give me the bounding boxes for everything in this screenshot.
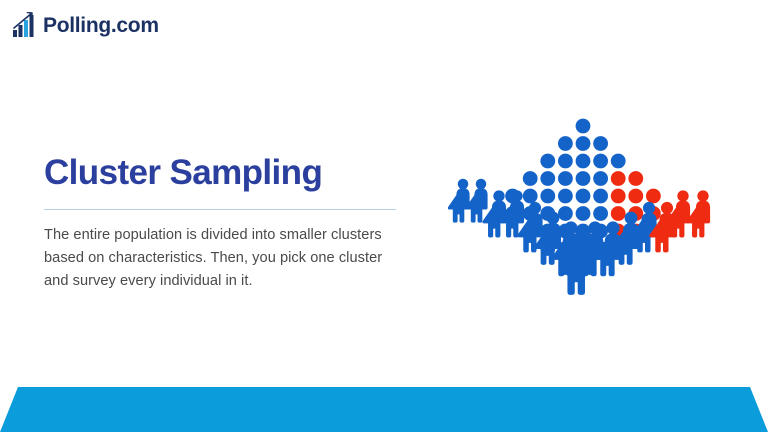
title-divider (44, 209, 396, 211)
crowd-cluster-diagram (448, 112, 718, 307)
bar-chart-growth-icon (12, 12, 36, 38)
crowd-svg (448, 112, 718, 307)
footer-shape (0, 387, 768, 432)
footer-banner (0, 387, 768, 432)
brand-name: Polling.com (43, 15, 159, 36)
page-title: Cluster Sampling (44, 155, 404, 192)
brand-logo[interactable]: Polling.com (12, 12, 159, 38)
slide-description: The entire population is divided into sm… (44, 224, 404, 293)
slide-content: Cluster Sampling The entire population i… (44, 155, 404, 293)
